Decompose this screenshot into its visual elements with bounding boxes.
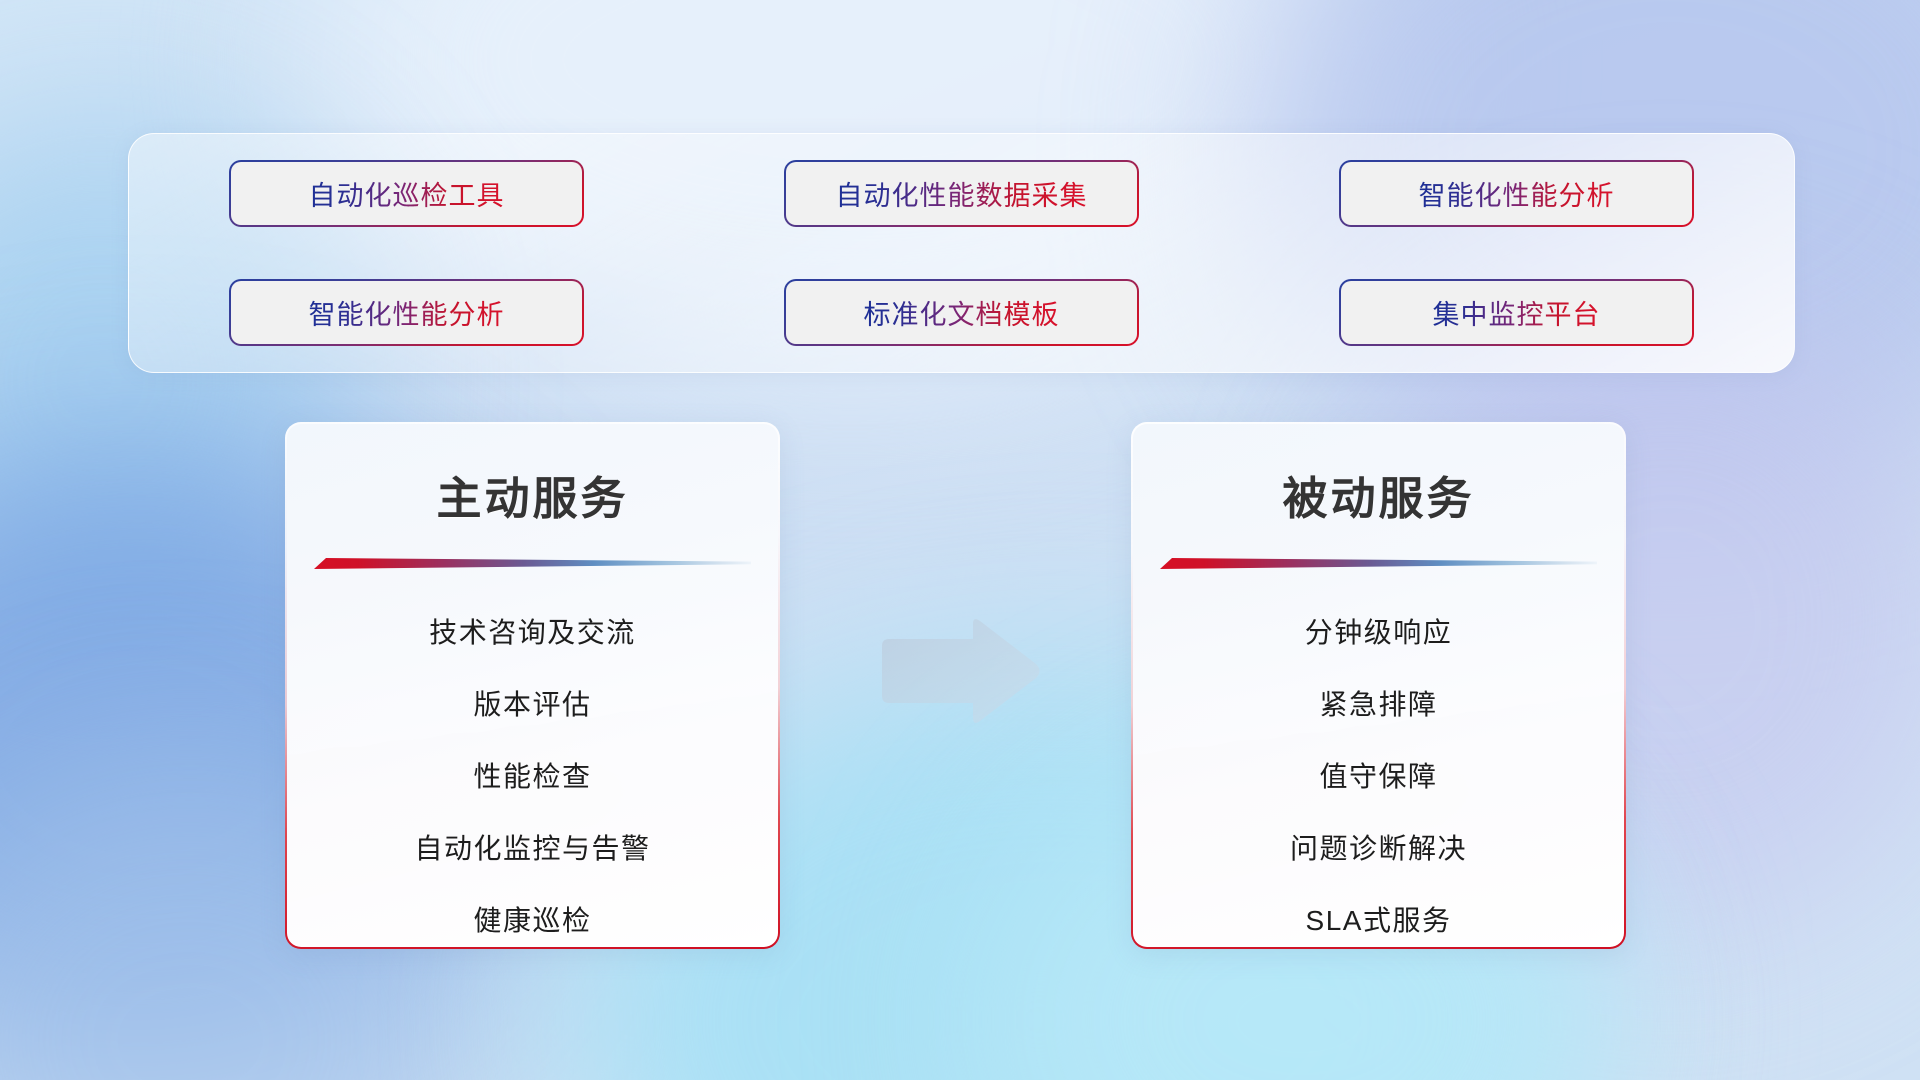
list-item: 问题诊断解决 bbox=[1290, 813, 1467, 885]
capabilities-panel: 自动化巡检工具 自动化性能数据采集 智能化性能分析 智能化性能分析 标准化文档模… bbox=[128, 133, 1795, 373]
capability-pill-label: 自动化性能数据采集 bbox=[836, 174, 1088, 213]
capability-pill[interactable]: 自动化性能数据采集 bbox=[784, 160, 1139, 227]
list-item: 分钟级响应 bbox=[1305, 597, 1453, 669]
list-item: SLA式服务 bbox=[1306, 885, 1452, 957]
capability-pill[interactable]: 智能化性能分析 bbox=[1339, 160, 1694, 227]
capability-pill-label: 智能化性能分析 bbox=[1419, 174, 1615, 213]
capability-pill[interactable]: 智能化性能分析 bbox=[229, 279, 584, 346]
card-divider bbox=[314, 557, 751, 571]
card-item-list: 技术咨询及交流 版本评估 性能检查 自动化监控与告警 健康巡检 bbox=[287, 597, 778, 957]
capability-pill-label: 智能化性能分析 bbox=[309, 293, 505, 332]
card-item-list: 分钟级响应 紧急排障 值守保障 问题诊断解决 SLA式服务 bbox=[1133, 597, 1624, 957]
list-item: 技术咨询及交流 bbox=[429, 597, 636, 669]
arrow-right-icon bbox=[876, 614, 1044, 728]
service-card-reactive[interactable]: 被动服务 分钟级响应 bbox=[1131, 422, 1626, 949]
list-item: 版本评估 bbox=[473, 669, 591, 741]
card-divider bbox=[1160, 557, 1597, 571]
capability-pill-label: 标准化文档模板 bbox=[864, 293, 1060, 332]
capability-pill-label: 集中监控平台 bbox=[1433, 293, 1601, 332]
service-card-proactive[interactable]: 主动服务 技术咨询及 bbox=[285, 422, 780, 949]
capability-pill[interactable]: 自动化巡检工具 bbox=[229, 160, 584, 227]
list-item: 性能检查 bbox=[473, 741, 591, 813]
capability-pill-label: 自动化巡检工具 bbox=[309, 174, 505, 213]
list-item: 紧急排障 bbox=[1319, 669, 1437, 741]
list-item: 健康巡检 bbox=[473, 885, 591, 957]
capability-pill[interactable]: 标准化文档模板 bbox=[784, 279, 1139, 346]
capability-pill[interactable]: 集中监控平台 bbox=[1339, 279, 1694, 346]
slide-canvas: 自动化巡检工具 自动化性能数据采集 智能化性能分析 智能化性能分析 标准化文档模… bbox=[0, 0, 1920, 1080]
capabilities-pill-grid: 自动化巡检工具 自动化性能数据采集 智能化性能分析 智能化性能分析 标准化文档模… bbox=[129, 134, 1794, 372]
card-title: 被动服务 bbox=[1282, 462, 1474, 527]
card-title: 主动服务 bbox=[436, 462, 628, 527]
list-item: 自动化监控与告警 bbox=[414, 813, 650, 885]
list-item: 值守保障 bbox=[1319, 741, 1437, 813]
